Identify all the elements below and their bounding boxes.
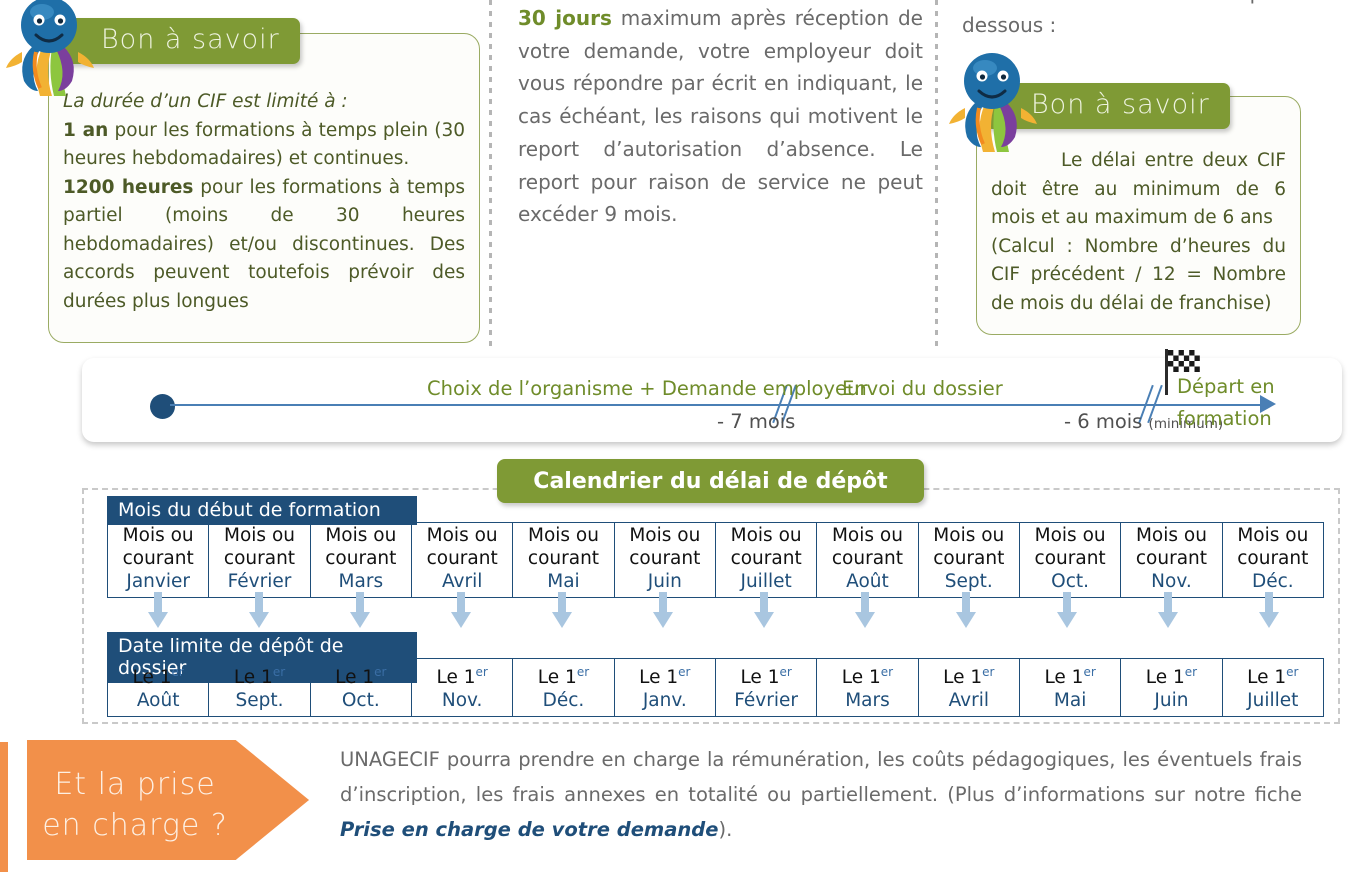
calendar-container: Mois du début de formation Mois oucouran… [82, 488, 1340, 724]
cell-month: Avril [919, 689, 1019, 712]
cell-prefix-line2: courant [919, 548, 1019, 571]
down-arrow-icon [450, 592, 472, 628]
cell-le-sup: er [273, 665, 285, 679]
cell-le-sup: er [1185, 665, 1197, 679]
cell-le-sup: er [374, 665, 386, 679]
middle-body: maximum après réception de votre demande… [518, 6, 923, 226]
table-row: Le 1erAoût Le 1erSept. Le 1erOct. Le 1er… [108, 659, 1324, 717]
down-arrow-icon [1056, 592, 1078, 628]
table-cell: Le 1erJanv. [614, 659, 715, 717]
right-callout-text-2: (Calcul : Nombre d’heures du CIF précéde… [991, 233, 1286, 319]
table-cell: Mois oucourantAvril [411, 523, 512, 598]
cell-prefix-line1: Mois ou [1223, 525, 1323, 548]
down-arrow-icon [551, 592, 573, 628]
left-callout-rest-1: pour les formations à temps plein (30 he… [63, 120, 465, 170]
calendar-table-start-months: Mois oucourantJanvier Mois oucourantFévr… [107, 522, 1324, 598]
timeline-tick-7-mois: - 7 mois [717, 410, 795, 433]
vertical-dotted-divider-left [489, 0, 492, 352]
bottom-text-pre: UNAGECIF pourra prendre en charge la rém… [340, 748, 1302, 806]
cell-le-text: Le 1 [1247, 667, 1286, 688]
cell-le-sup: er [881, 665, 893, 679]
cell-prefix-line2: courant [513, 548, 613, 571]
table-cell: Le 1erFévrier [715, 659, 816, 717]
cell-prefix-line2: courant [1121, 548, 1221, 571]
cell-prefix-line2: courant [817, 548, 917, 571]
table-cell: Le 1erOct. [310, 659, 411, 717]
cell-prefix-line1: Mois ou [311, 525, 411, 548]
left-callout-intro: La durée d’un CIF est limité à : [63, 91, 348, 112]
cell-prefix-line1: Mois ou [716, 525, 816, 548]
orange-arrow-banner: Et la prise en charge ? [27, 740, 309, 860]
table-cell: Mois oucourantNov. [1121, 523, 1222, 598]
vertical-dotted-divider-right [935, 0, 938, 352]
cell-prefix-line2: courant [1020, 548, 1120, 571]
table-cell: Le 1erMai [1019, 659, 1120, 717]
down-arrow-icon [955, 592, 977, 628]
top-three-column-area: La durée d’un CIF est limité à : 1 an po… [0, 0, 1363, 352]
callout-box-left: La durée d’un CIF est limité à : 1 an po… [48, 33, 480, 343]
cell-le-prefix: Le 1er [716, 661, 816, 689]
cell-le-text: Le 1 [842, 667, 881, 688]
timeline-destination-label: Départ en formation [1177, 371, 1275, 435]
down-arrow-icon [1258, 592, 1280, 628]
cell-prefix-line2: courant [311, 548, 411, 571]
cell-prefix-line1: Mois ou [1121, 525, 1221, 548]
timeline-destination-line2: formation [1177, 407, 1272, 430]
left-callout-bold-2: 1200 heures [63, 177, 193, 198]
bottom-paragraph: UNAGECIF pourra prendre en charge la rém… [340, 742, 1302, 847]
timeline-axis-line [170, 404, 1270, 406]
timeline-start-dot [150, 394, 175, 419]
timeline-label-envoi: Envoi du dossier [842, 377, 1003, 400]
cell-le-sup: er [982, 665, 994, 679]
cell-le-prefix: Le 1er [1020, 661, 1120, 689]
cell-month: Juillet [1223, 689, 1323, 712]
cell-le-prefix: Le 1er [108, 661, 208, 689]
calendar-title-pill: Calendrier du délai de dépôt [497, 459, 924, 503]
timeline-label-choix: Choix de l’organisme + Demande employeur [427, 377, 867, 400]
table-row: Mois oucourantJanvier Mois oucourantFévr… [108, 523, 1324, 598]
cell-le-prefix: Le 1er [615, 661, 715, 689]
right-column-top-text: calendrier du délai de dépôt ci-dessous … [962, 0, 1322, 41]
down-arrow-icon [147, 592, 169, 628]
cell-prefix-line2: courant [108, 548, 208, 571]
cell-prefix-line1: Mois ou [1020, 525, 1120, 548]
calendar-arrows-row [107, 590, 1324, 630]
page-root: La durée d’un CIF est limité à : 1 an po… [0, 0, 1363, 872]
table-cell: Le 1erJuin [1121, 659, 1222, 717]
cell-month: Oct. [311, 689, 411, 712]
cell-prefix-line1: Mois ou [919, 525, 1019, 548]
cell-month: Mai [1020, 689, 1120, 712]
timeline-card: Choix de l’organisme + Demande employeur… [82, 358, 1342, 442]
cell-le-text: Le 1 [436, 667, 475, 688]
cell-le-prefix: Le 1er [817, 661, 917, 689]
cell-le-sup: er [779, 665, 791, 679]
right-callout-text: Le délai entre deux CIF doit être au min… [991, 147, 1286, 233]
calendar-table-deadline-dates: Le 1erAoût Le 1erSept. Le 1erOct. Le 1er… [107, 658, 1324, 717]
left-orange-gutter [0, 742, 8, 872]
table-cell: Mois oucourantMai [513, 523, 614, 598]
table-cell: Le 1erAvril [918, 659, 1019, 717]
table-cell: Le 1erAoût [108, 659, 209, 717]
table-cell: Mois oucourantOct. [1019, 523, 1120, 598]
mascot-character-left [2, 0, 98, 102]
cell-month: Février [716, 689, 816, 712]
cell-le-sup: er [172, 665, 184, 679]
cell-prefix-line1: Mois ou [412, 525, 512, 548]
timeline-destination-line1: Départ en [1177, 375, 1275, 398]
cell-month: Juin [1121, 689, 1221, 712]
table-cell: Le 1erJuillet [1222, 659, 1323, 717]
cell-le-text: Le 1 [335, 667, 374, 688]
orange-banner-line1: Et la prise [54, 767, 215, 802]
down-arrow-icon [1157, 592, 1179, 628]
cell-prefix-line2: courant [412, 548, 512, 571]
cell-le-text: Le 1 [740, 667, 779, 688]
table-cell: Mois oucourantJuillet [715, 523, 816, 598]
down-arrow-icon [652, 592, 674, 628]
cell-le-prefix: Le 1er [412, 661, 512, 689]
cell-le-text: Le 1 [132, 667, 171, 688]
table-cell: Le 1erMars [817, 659, 918, 717]
cell-prefix-line2: courant [1223, 548, 1323, 571]
cell-le-prefix: Le 1er [209, 661, 309, 689]
cell-le-sup: er [1286, 665, 1298, 679]
table-cell: Mois oucourantSept. [918, 523, 1019, 598]
cell-prefix-line1: Mois ou [108, 525, 208, 548]
cell-prefix-line2: courant [209, 548, 309, 571]
cell-le-sup: er [1083, 665, 1095, 679]
table-cell: Mois oucourantFévrier [209, 523, 310, 598]
cell-le-text: Le 1 [1146, 667, 1185, 688]
timeline-tick-6-mois-main: - 6 mois [1064, 410, 1142, 433]
table-cell: Le 1erSept. [209, 659, 310, 717]
cell-month: Août [108, 689, 208, 712]
cell-le-text: Le 1 [1044, 667, 1083, 688]
table-cell: Le 1erDéc. [513, 659, 614, 717]
down-arrow-icon [248, 592, 270, 628]
bottom-text-post: ). [718, 818, 732, 841]
mascot-character-right [945, 48, 1041, 158]
cell-prefix-line1: Mois ou [615, 525, 715, 548]
cell-prefix-line2: courant [716, 548, 816, 571]
bottom-text-link: Prise en charge de votre demande [340, 818, 718, 841]
cell-le-text: Le 1 [538, 667, 577, 688]
orange-banner-label: Et la prise en charge ? [27, 764, 243, 846]
table-cell: Mois oucourantDéc. [1222, 523, 1323, 598]
down-arrow-icon [854, 592, 876, 628]
cell-prefix-line1: Mois ou [209, 525, 309, 548]
cell-le-sup: er [577, 665, 589, 679]
cell-month: Janv. [615, 689, 715, 712]
cell-le-text: Le 1 [639, 667, 678, 688]
middle-column-text: 30 jours maximum après réception de votr… [518, 2, 923, 231]
cell-month: Nov. [412, 689, 512, 712]
cell-le-prefix: Le 1er [1223, 661, 1323, 689]
cell-month: Mars [817, 689, 917, 712]
table-cell: Mois oucourantJanvier [108, 523, 209, 598]
cell-prefix-line2: courant [615, 548, 715, 571]
cell-le-sup: er [475, 665, 487, 679]
cell-le-prefix: Le 1er [311, 661, 411, 689]
cell-month: Sept. [209, 689, 309, 712]
table-cell: Le 1erNov. [411, 659, 512, 717]
cell-le-sup: er [678, 665, 690, 679]
table-cell: Mois oucourantAoût [817, 523, 918, 598]
down-arrow-icon [753, 592, 775, 628]
left-callout-text: La durée d’un CIF est limité à : 1 an po… [63, 88, 465, 316]
cell-le-prefix: Le 1er [1121, 661, 1221, 689]
down-arrow-icon [349, 592, 371, 628]
cell-le-prefix: Le 1er [919, 661, 1019, 689]
cell-le-text: Le 1 [234, 667, 273, 688]
cell-month: Déc. [513, 689, 613, 712]
middle-lead-bold: 30 jours [518, 6, 612, 30]
cell-prefix-line1: Mois ou [513, 525, 613, 548]
cell-prefix-line1: Mois ou [817, 525, 917, 548]
calendar-row1-header: Mois du début de formation [107, 496, 417, 525]
orange-banner-line2: en charge ? [42, 808, 228, 843]
table-cell: Mois oucourantMars [310, 523, 411, 598]
cell-le-prefix: Le 1er [513, 661, 613, 689]
left-callout-bold-1: 1 an [63, 120, 108, 141]
table-cell: Mois oucourantJuin [614, 523, 715, 598]
cell-le-text: Le 1 [943, 667, 982, 688]
